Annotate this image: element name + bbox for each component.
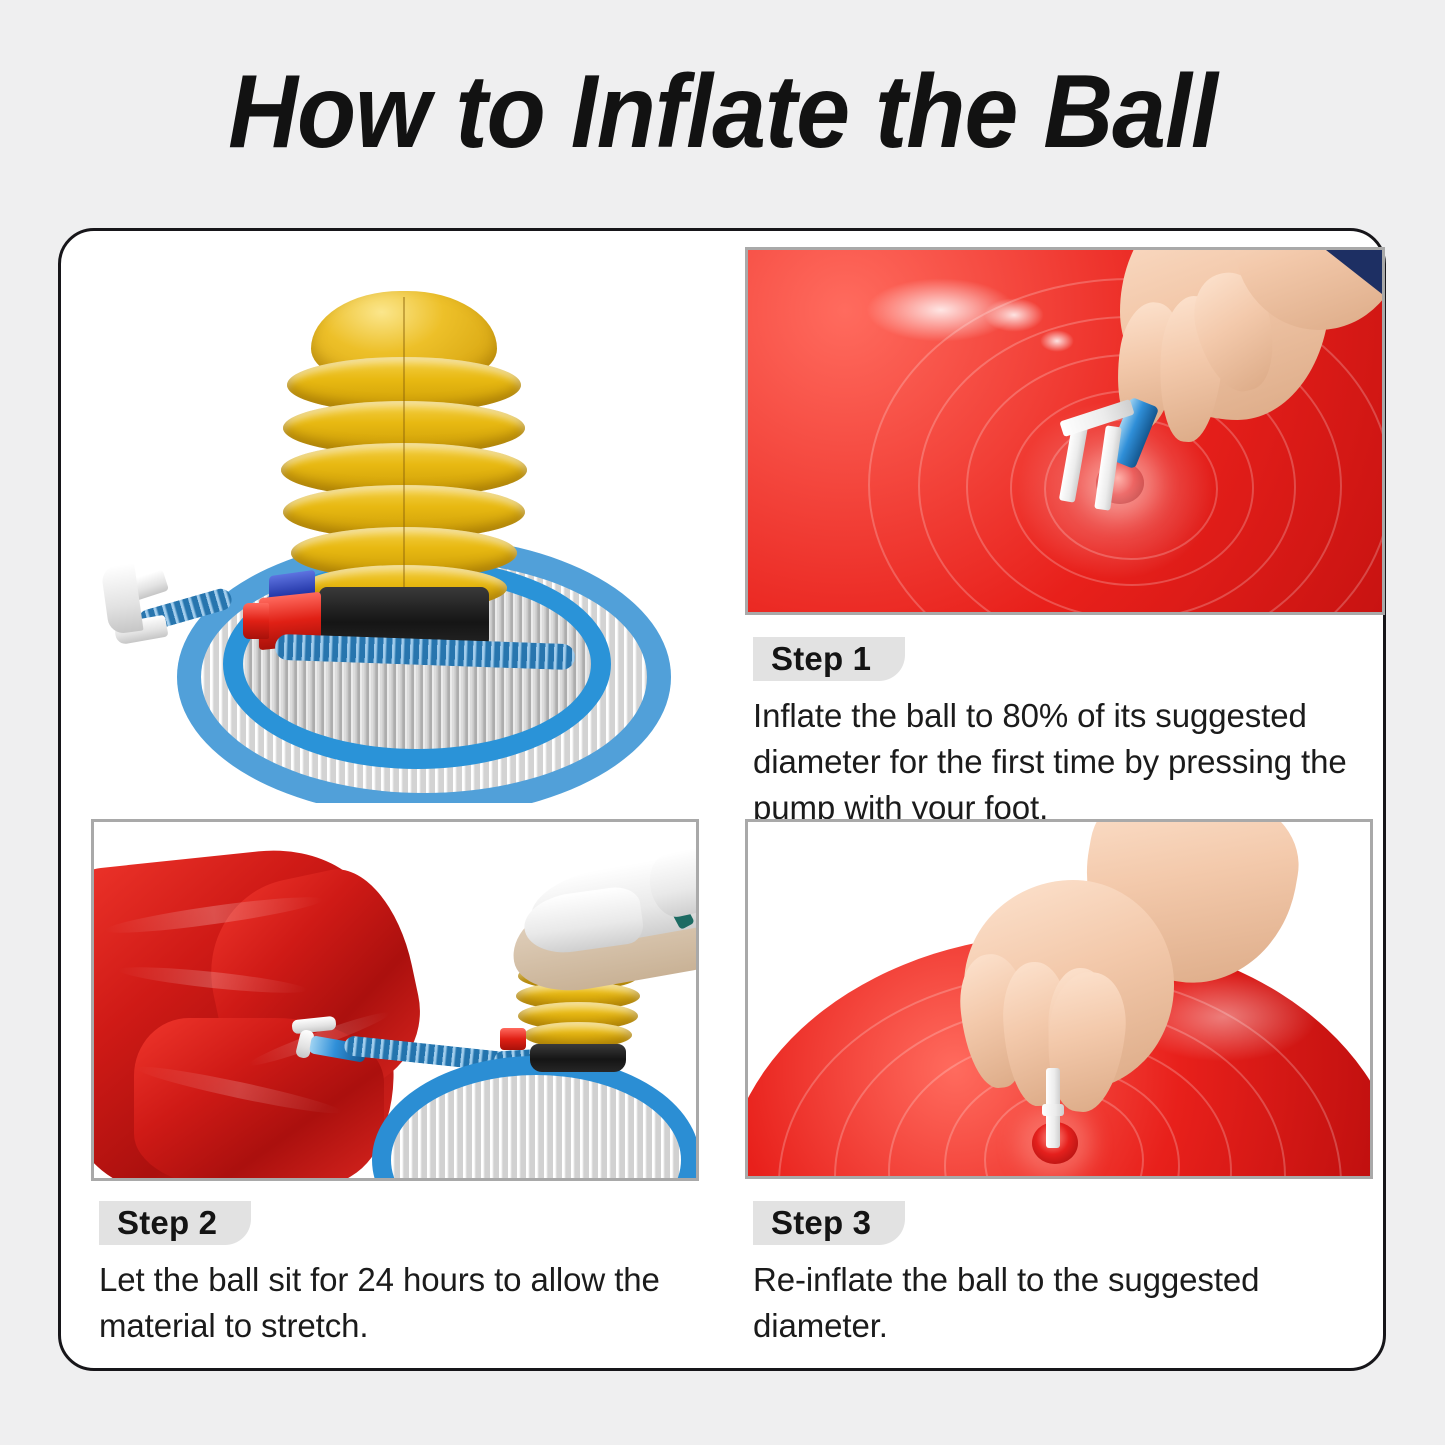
pump-seam [403,297,405,599]
pump2-base [530,1044,626,1072]
panel-step-1: Step 1 Inflate the ball to 80% of its su… [745,247,1385,803]
panel-step-3: Step 3 Re-inflate the ball to the sugges… [745,819,1385,1359]
step1-badge-label: Step 1 [771,640,871,678]
panel-step-2: Step 2 Let the ball sit for 24 hours to … [91,819,729,1359]
step2-badge-label: Step 2 [117,1204,217,1242]
step3-photo [745,819,1373,1179]
ball-plug-collar [1042,1104,1064,1116]
instructions-card: Step 1 Inflate the ball to 80% of its su… [58,228,1386,1371]
panel-product [91,247,729,803]
adapter-red-step2 [500,1028,526,1050]
page-title: How to Inflate the Ball [51,58,1395,167]
corner-accent-icon [1326,250,1382,294]
ball-highlight-3 [1040,330,1074,352]
step3-badge-label: Step 3 [771,1204,871,1242]
step1-text: Inflate the ball to 80% of its suggested… [753,693,1365,831]
step1-badge: Step 1 [753,637,905,681]
step2-photo [91,819,699,1181]
step3-badge: Step 3 [753,1201,905,1245]
foot-pump [279,291,529,623]
step3-text: Re-inflate the ball to the suggested dia… [753,1257,1375,1349]
step2-badge: Step 2 [99,1201,251,1245]
step1-photo [745,247,1385,615]
adapter-red-cap [243,603,269,639]
step2-text: Let the ball sit for 24 hours to allow t… [99,1257,699,1349]
ball-highlight-2 [984,298,1044,332]
product-photo [91,247,729,803]
